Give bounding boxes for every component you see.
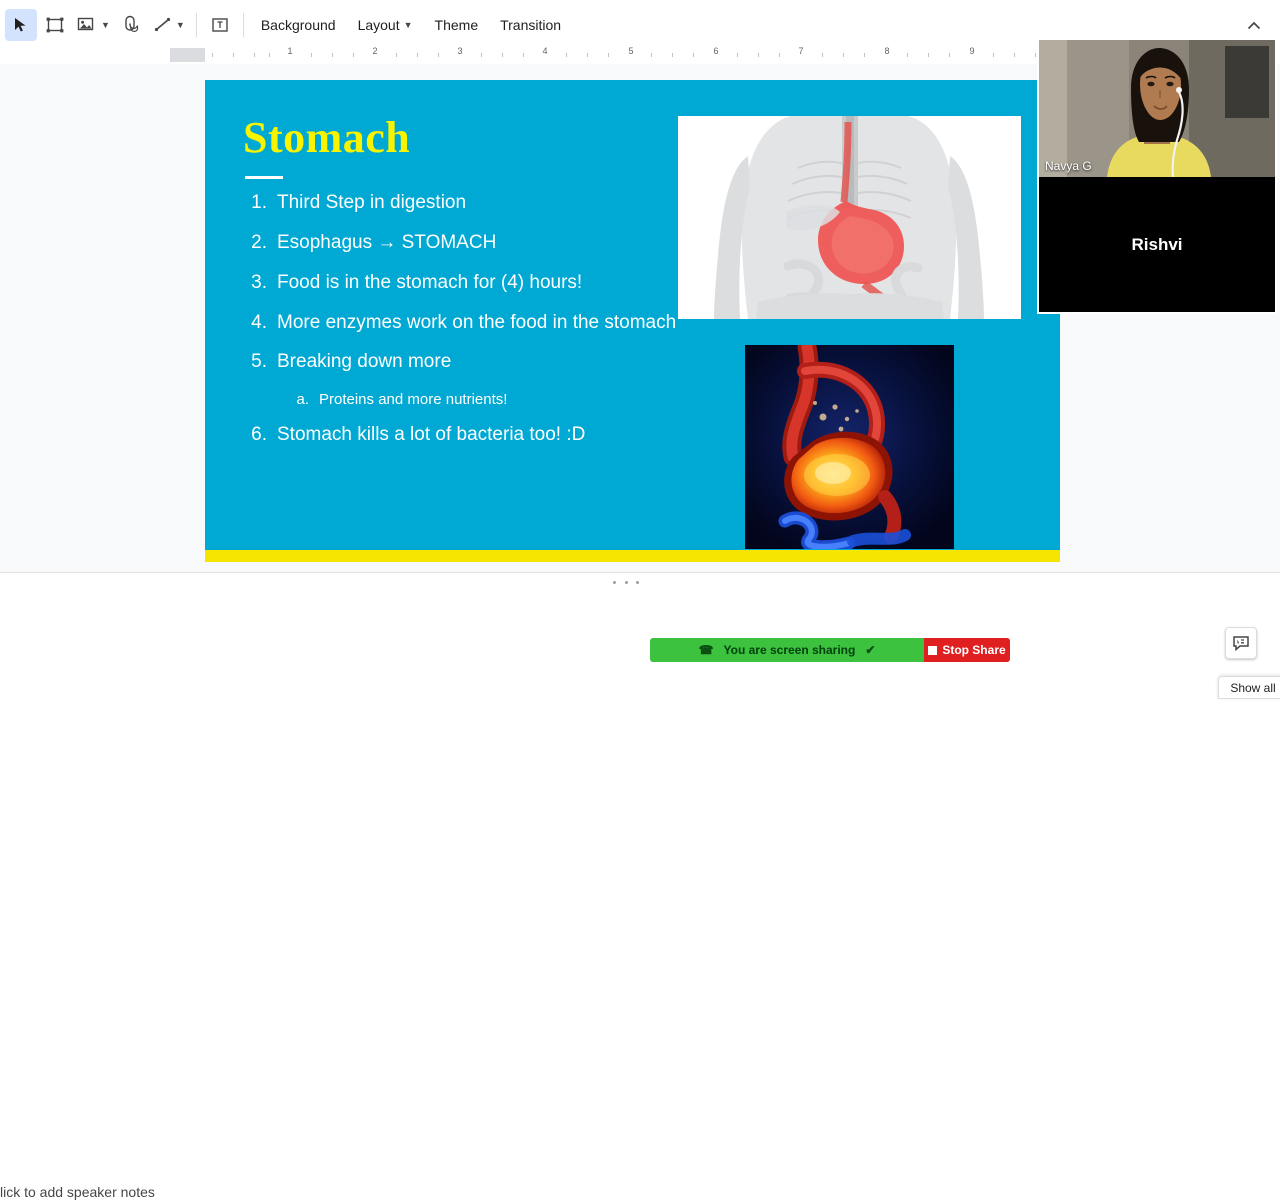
list-marker: 5. <box>243 351 277 373</box>
line-icon <box>154 16 172 34</box>
list-text: Proteins and more nutrients! <box>319 391 803 408</box>
list-text: Stomach kills a lot of bacteria too! :D <box>277 424 803 446</box>
zoom-participant-panel[interactable]: Navya G Rishvi <box>1037 38 1277 314</box>
cursor-tool[interactable] <box>5 9 37 41</box>
cursor-icon <box>14 17 28 33</box>
anatomy-torso-image[interactable] <box>678 116 1021 319</box>
image-icon <box>77 16 97 34</box>
toolbar-divider <box>196 13 197 37</box>
list-marker: 3. <box>243 272 277 294</box>
stop-square-icon <box>928 646 937 655</box>
feedback-button[interactable] <box>1225 627 1257 659</box>
show-all-downloads-button[interactable]: Show all <box>1218 676 1280 699</box>
zoom-thumbnail-video[interactable]: Navya G <box>1039 40 1275 177</box>
transition-button[interactable]: Transition <box>490 9 571 41</box>
feedback-icon <box>1232 634 1250 652</box>
list-marker: 2. <box>243 232 277 254</box>
ruler-margin-left <box>170 48 205 62</box>
slide-title[interactable]: Stomach <box>243 112 410 163</box>
stop-share-button[interactable]: Stop Share <box>924 638 1010 662</box>
list-text: Breaking down more <box>277 351 803 373</box>
ruler-number: 9 <box>969 46 974 56</box>
sharing-status[interactable]: ☎ You are screen sharing ✔ <box>650 638 924 662</box>
active-speaker-name: Rishvi <box>1039 177 1275 312</box>
sub-list-item: a. Proteins and more nutrients! <box>289 391 803 408</box>
sharing-status-label: You are screen sharing <box>724 643 856 657</box>
stop-share-label: Stop Share <box>942 643 1005 657</box>
list-marker: 4. <box>243 312 277 334</box>
ruler-number: 4 <box>542 46 547 56</box>
list-marker: 1. <box>243 192 277 214</box>
webcam-frame <box>1039 40 1275 177</box>
insert-textbox-tool[interactable] <box>204 9 236 41</box>
shield-icon: ✔ <box>865 643 875 657</box>
shape-icon <box>123 16 141 34</box>
shape-tool[interactable] <box>116 9 148 41</box>
chevron-down-icon: ▼ <box>404 20 413 30</box>
title-underline <box>245 176 283 179</box>
anatomy-torso-graphic <box>678 116 1021 319</box>
select-box-icon <box>46 16 64 34</box>
ruler-number: 5 <box>628 46 633 56</box>
slide-canvas[interactable]: Stomach 1. Third Step in digestion 2. Es… <box>205 80 1060 562</box>
stomach-illustration-image[interactable] <box>745 345 954 549</box>
toolbar-divider <box>243 13 244 37</box>
textbox-icon <box>211 16 229 34</box>
ruler-number: 7 <box>798 46 803 56</box>
list-item: 5. Breaking down more <box>243 351 803 373</box>
ruler-number: 2 <box>372 46 377 56</box>
chevron-up-icon <box>1245 17 1263 35</box>
participant-thumbnail-name: Navya G <box>1045 159 1092 173</box>
select-box-tool[interactable] <box>39 9 71 41</box>
ruler-number: 8 <box>884 46 889 56</box>
notes-resize-handle[interactable] <box>613 578 639 586</box>
slide-accent-bar <box>205 550 1060 562</box>
line-tool[interactable]: ▼ <box>150 9 189 41</box>
chevron-down-icon: ▼ <box>101 20 110 30</box>
list-marker: 6. <box>243 424 277 446</box>
ruler-number: 1 <box>287 46 292 56</box>
ruler-number: 6 <box>713 46 718 56</box>
show-all-label: Show all <box>1230 681 1275 695</box>
chevron-down-icon: ▼ <box>176 20 185 30</box>
list-marker: a. <box>289 391 319 408</box>
notes-divider <box>0 572 1280 573</box>
theme-button[interactable]: Theme <box>425 9 489 41</box>
background-button[interactable]: Background <box>251 9 346 41</box>
speaker-notes-placeholder[interactable]: lick to add speaker notes <box>0 1184 155 1200</box>
speaker-notes-pane[interactable]: lick to add speaker notes <box>0 586 1280 699</box>
zoom-share-bar[interactable]: ☎ You are screen sharing ✔ Stop Share <box>650 638 1010 662</box>
ruler-number: 3 <box>457 46 462 56</box>
layout-menu-label: Layout <box>358 17 400 33</box>
insert-image-tool[interactable]: ▼ <box>73 9 114 41</box>
phone-icon: ☎ <box>699 643 714 657</box>
stomach-illustration-graphic <box>745 345 954 549</box>
list-item: 6. Stomach kills a lot of bacteria too! … <box>243 424 803 446</box>
layout-menu[interactable]: Layout ▼ <box>348 9 423 41</box>
